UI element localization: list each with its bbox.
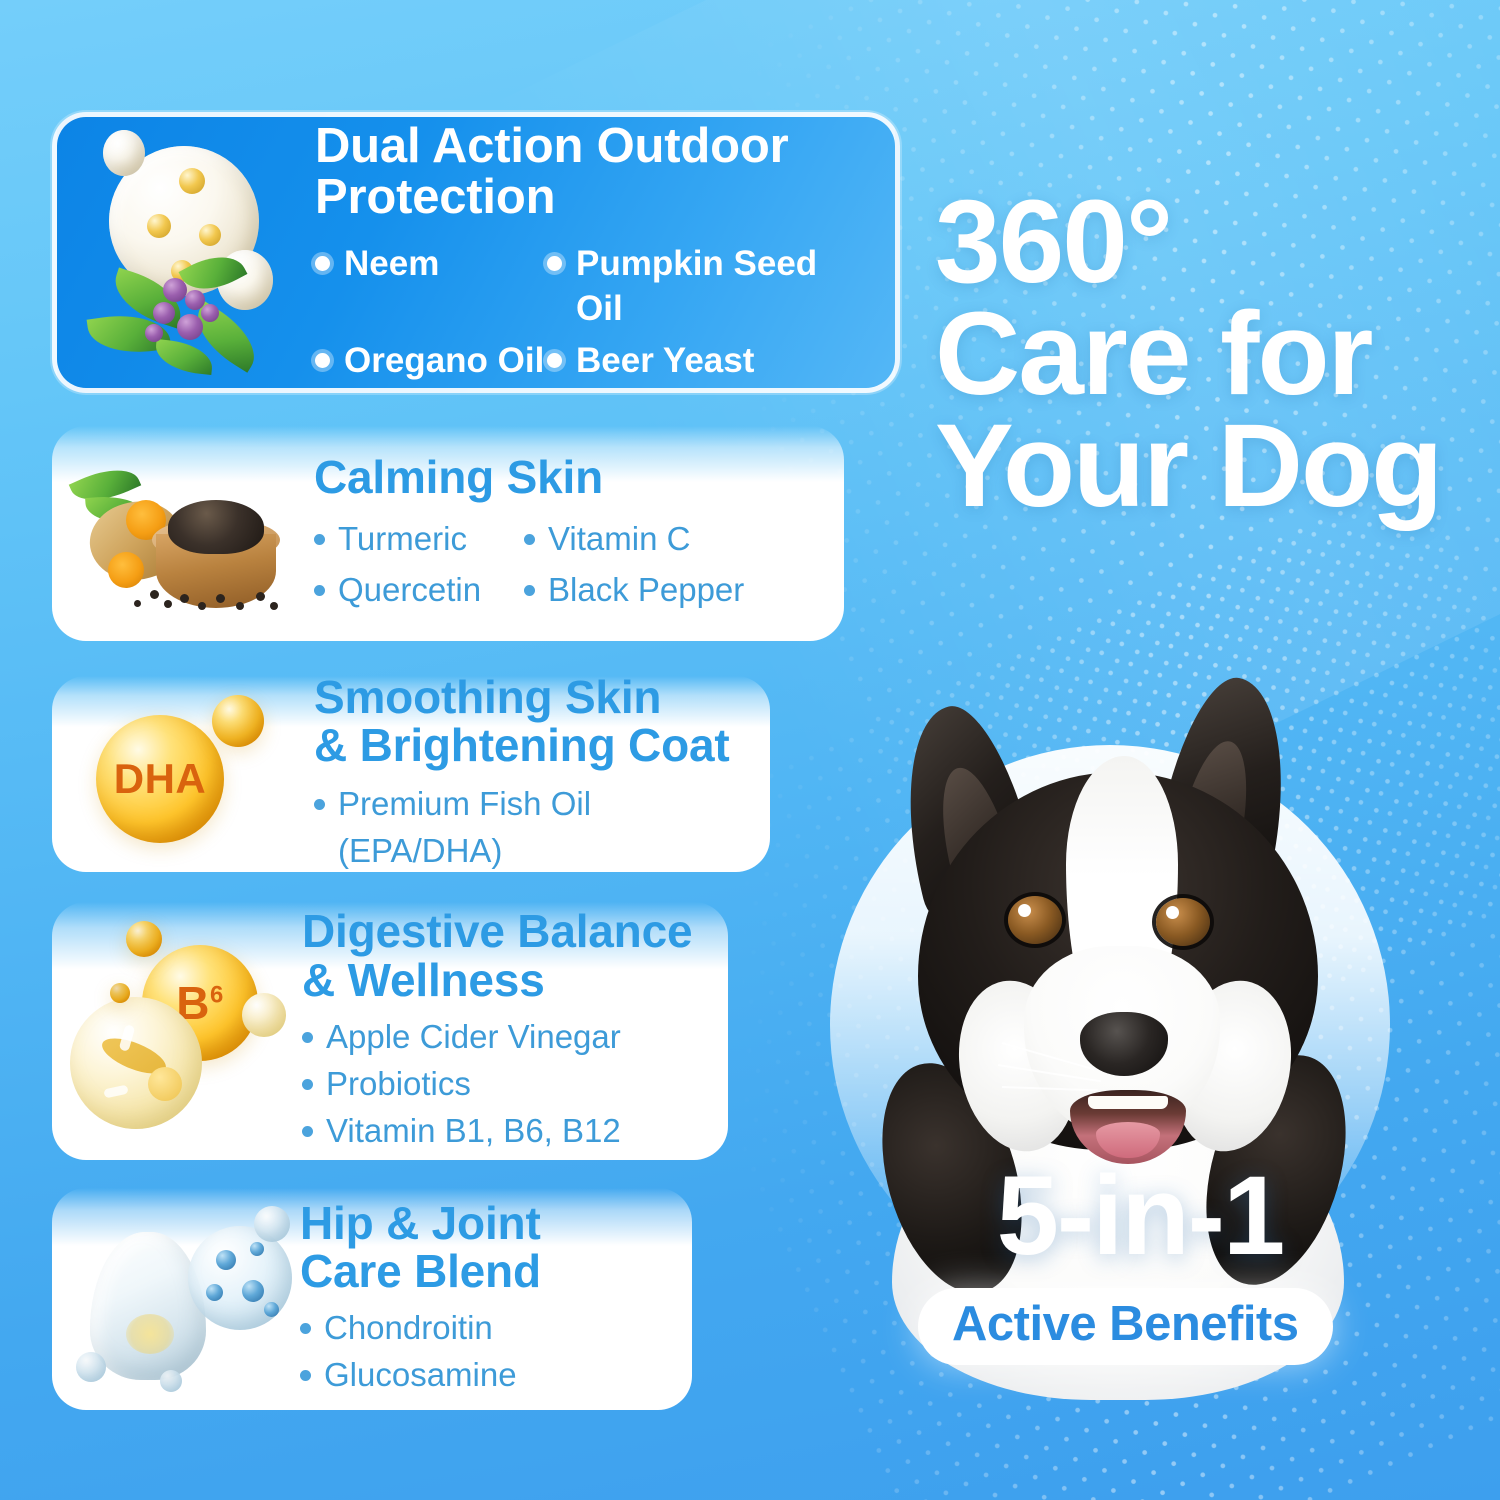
ingredient-item: Turmeric (314, 516, 524, 563)
ingredient-label: Chondroitin (324, 1305, 493, 1352)
ingredient-list: Apple Cider Vinegar Probiotics Vitamin B… (302, 1014, 702, 1155)
ingredient-item: Glucosamine (300, 1352, 666, 1399)
headline-line-your-dog: Your Dog (935, 410, 1475, 522)
dog-teeth (1088, 1096, 1168, 1109)
bullet-dot-icon (524, 585, 535, 596)
ingredient-item: Pumpkin Seed Oil (547, 242, 869, 332)
badge-active-benefits: Active Benefits (918, 1288, 1333, 1365)
ingredient-list: Turmeric Vitamin C Quercetin Black Peppe… (314, 516, 818, 614)
product-infographic-poster: Dual Action Outdoor Protection Neem Pump… (0, 0, 1500, 1500)
ingredient-label: Oregano Oil (344, 339, 544, 384)
benefit-card-calming-skin[interactable]: Calming Skin Turmeric Vitamin C Querceti… (52, 426, 844, 641)
card-text-block: Calming Skin Turmeric Vitamin C Querceti… (314, 453, 818, 613)
ingredient-item: Vitamin B1, B6, B12 (302, 1108, 702, 1155)
card-title-line1: Digestive Balance (302, 905, 692, 957)
ingredient-label: Apple Cider Vinegar (326, 1014, 621, 1061)
bullet-dot-icon (314, 585, 325, 596)
dha-gold-capsule-icon: DHA (64, 689, 314, 859)
dog-eye-glint-right (1166, 906, 1179, 919)
ingredient-list: Neem Pumpkin Seed Oil Oregano Oil Beer Y… (315, 242, 869, 384)
bullet-dot-icon (300, 1323, 311, 1334)
bullet-dot-icon (302, 1032, 313, 1043)
ingredient-item: Neem (315, 242, 547, 332)
capsule-label: DHA (114, 758, 207, 800)
dog-eye-left (1008, 896, 1062, 944)
ingredient-item: Black Pepper (524, 567, 744, 614)
vitamin-b6-capsule-icon: B6 (64, 921, 302, 1141)
benefit-card-list: Dual Action Outdoor Protection Neem Pump… (52, 112, 902, 1410)
bullet-dot-icon (547, 353, 562, 368)
benefit-card-smoothing-skin-brightening-coat[interactable]: DHA Smoothing Skin & Brightening Coat Pr… (52, 676, 770, 872)
ingredient-item: Chondroitin (300, 1305, 666, 1352)
ingredient-label: Quercetin (338, 567, 481, 614)
ingredient-label: Beer Yeast (576, 339, 754, 384)
bullet-dot-icon (300, 1370, 311, 1381)
card-title-line1: Hip & Joint (300, 1197, 541, 1249)
ingredient-item: Quercetin (314, 567, 524, 614)
ingredient-item: Apple Cider Vinegar (302, 1014, 702, 1061)
ingredient-label: Turmeric (338, 516, 467, 563)
ingredient-item: Beer Yeast (547, 339, 869, 384)
dog-eye-right (1156, 898, 1210, 946)
ingredient-label: Neem (344, 242, 439, 287)
capsule-label-sup: 6 (210, 982, 224, 1009)
bullet-dot-icon (524, 534, 535, 545)
bullet-dot-icon (547, 256, 562, 271)
bullet-dot-icon (302, 1126, 313, 1137)
card-title-line2: & Brightening Coat (314, 719, 729, 771)
water-droplet-molecule-icon (64, 1204, 300, 1394)
badge-5-in-1: 5-in-1 (905, 1160, 1375, 1272)
turmeric-black-pepper-bowl-icon (64, 444, 314, 624)
benefit-card-hip-joint-care-blend[interactable]: Hip & Joint Care Blend Chondroitin Gluco… (52, 1188, 692, 1410)
card-text-block: Digestive Balance & Wellness Apple Cider… (302, 907, 702, 1154)
ingredient-label: Vitamin B1, B6, B12 (326, 1108, 621, 1155)
ingredient-item: Vitamin C (524, 516, 744, 563)
bullet-dot-icon (302, 1079, 313, 1090)
oil-capsule-herb-icon (71, 128, 315, 378)
card-title: Hip & Joint Care Blend (300, 1199, 666, 1296)
card-text-block: Smoothing Skin & Brightening Coat Premiu… (314, 673, 744, 875)
ingredient-label: Vitamin C (548, 516, 690, 563)
ingredient-item: Oregano Oil (315, 339, 547, 384)
card-title-line2: & Wellness (302, 954, 545, 1006)
card-title-line2: Care Blend (300, 1245, 541, 1297)
card-title: Calming Skin (314, 453, 818, 501)
bullet-dot-icon (314, 534, 325, 545)
benefit-card-digestive-balance-wellness[interactable]: B6 Digestive Balance & Wellness Apple Ci… (52, 902, 728, 1160)
ingredient-item: Premium Fish Oil (EPA/DHA) (314, 781, 744, 875)
bullet-dot-icon (314, 799, 325, 810)
benefit-card-dual-action-outdoor-protection[interactable]: Dual Action Outdoor Protection Neem Pump… (52, 112, 900, 393)
poster-headline: 360° Care for Your Dog (935, 186, 1475, 522)
bullet-dot-icon (315, 353, 330, 368)
card-title-line1: Smoothing Skin (314, 671, 661, 723)
card-title: Digestive Balance & Wellness (302, 907, 702, 1004)
ingredient-label: Glucosamine (324, 1352, 517, 1399)
ingredient-label: Black Pepper (548, 567, 744, 614)
ingredient-label: Premium Fish Oil (EPA/DHA) (338, 781, 744, 875)
ingredient-list: Premium Fish Oil (EPA/DHA) (314, 781, 744, 875)
card-title: Dual Action Outdoor Protection (315, 121, 869, 224)
ingredient-label: Probiotics (326, 1061, 471, 1108)
card-text-block: Hip & Joint Care Blend Chondroitin Gluco… (300, 1199, 666, 1399)
ingredient-label: Pumpkin Seed Oil (576, 242, 869, 332)
headline-line-care-for: Care for (935, 298, 1475, 410)
bullet-dot-icon (315, 256, 330, 271)
ingredient-list: Chondroitin Glucosamine (300, 1305, 666, 1399)
card-text-block: Dual Action Outdoor Protection Neem Pump… (315, 121, 869, 384)
ingredient-item: Probiotics (302, 1061, 702, 1108)
dog-eye-glint-left (1018, 904, 1031, 917)
card-title: Smoothing Skin & Brightening Coat (314, 673, 744, 770)
